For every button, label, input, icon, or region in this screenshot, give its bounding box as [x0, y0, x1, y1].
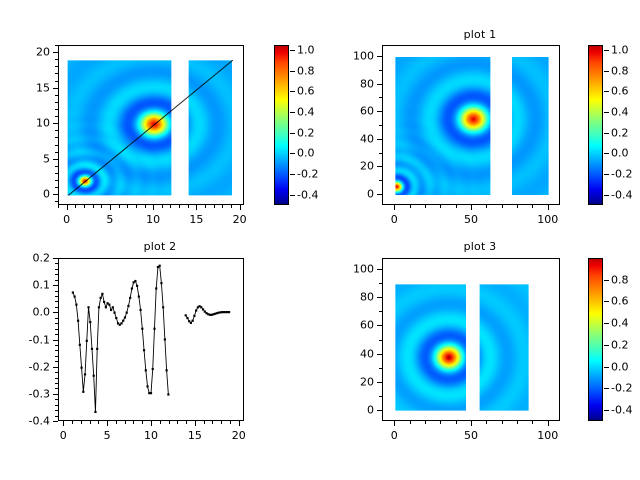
axes-plot-1 — [382, 45, 560, 205]
data-point-marker — [155, 287, 157, 289]
colorbar-tick — [290, 91, 295, 92]
data-point-marker — [110, 309, 112, 311]
data-point-marker — [108, 304, 110, 306]
colorbar-tick — [604, 112, 609, 113]
colorbar-tick-label: 0.6 — [611, 295, 629, 308]
data-point-marker — [159, 265, 161, 267]
y-tick-label: -0.2 — [0, 360, 50, 373]
data-point-marker — [124, 316, 126, 318]
y-tick-minor — [379, 125, 382, 126]
x-tick-minor — [502, 421, 503, 424]
y-tick-label: 20 — [320, 160, 374, 173]
x-tick-minor — [136, 205, 137, 208]
colorbar-tick-label: 0.6 — [297, 85, 315, 98]
y-tick-minor — [55, 166, 58, 167]
y-tick-minor — [55, 180, 58, 181]
y-tick-major — [53, 88, 58, 89]
x-tick-major — [195, 421, 196, 426]
y-tick-major — [377, 194, 382, 195]
x-tick-major — [471, 205, 472, 210]
data-point-marker — [136, 285, 138, 287]
data-point-marker — [190, 322, 192, 324]
y-tick-major — [377, 410, 382, 411]
data-point-marker — [134, 280, 136, 282]
x-tick-major — [548, 205, 549, 210]
x-tick-minor — [119, 205, 120, 208]
y-tick-label: 5 — [0, 152, 50, 165]
y-tick-label: 0.1 — [0, 279, 50, 292]
data-point-marker — [75, 304, 77, 306]
x-tick-minor — [98, 421, 99, 424]
x-tick-minor — [486, 421, 487, 424]
y-tick-minor — [55, 59, 58, 60]
x-tick-minor — [84, 205, 85, 208]
data-point-marker — [103, 301, 105, 303]
y-tick-minor — [55, 329, 58, 330]
colorbar-tick-label: 0.0 — [611, 360, 629, 373]
x-tick-minor — [231, 205, 232, 208]
y-tick-minor — [379, 97, 382, 98]
data-point-marker — [112, 306, 114, 308]
x-tick-minor — [101, 205, 102, 208]
colorbar-tick — [604, 345, 609, 346]
data-point-marker — [74, 295, 76, 297]
y-tick-major — [377, 56, 382, 57]
y-tick-label: 40 — [320, 347, 374, 360]
y-tick-minor — [55, 323, 58, 324]
data-point-marker — [143, 349, 145, 351]
y-tick-minor — [55, 187, 58, 188]
x-tick-minor — [517, 421, 518, 424]
x-tick-minor — [440, 205, 441, 208]
x-tick-label: 5 — [104, 429, 111, 442]
y-tick-minor — [55, 280, 58, 281]
x-tick-minor — [410, 205, 411, 208]
data-point-marker — [152, 368, 154, 370]
x-tick-minor — [142, 421, 143, 424]
y-tick-minor — [55, 95, 58, 96]
data-point-marker — [160, 282, 162, 284]
y-tick-minor — [55, 109, 58, 110]
x-tick-minor — [425, 205, 426, 208]
y-tick-label: 0 — [320, 187, 374, 200]
data-point-marker — [89, 321, 91, 323]
colorbar-plot-1 — [588, 45, 603, 205]
axes-plot-3 — [382, 258, 560, 421]
y-tick-label: 60 — [320, 319, 374, 332]
data-point-marker — [115, 317, 117, 319]
colorbar-tick-label: 1.0 — [611, 44, 629, 57]
y-tick-label: 0 — [0, 188, 50, 201]
y-tick-minor — [55, 45, 58, 46]
y-tick-minor — [55, 274, 58, 275]
data-point-marker — [166, 369, 168, 371]
data-point-marker — [200, 306, 202, 308]
y-tick-minor — [55, 416, 58, 417]
data-point-marker — [91, 348, 93, 350]
y-tick-minor — [379, 396, 382, 397]
x-tick-minor — [456, 421, 457, 424]
y-tick-major — [53, 194, 58, 195]
y-tick-label: 15 — [0, 81, 50, 94]
y-tick-minor — [379, 283, 382, 284]
data-point-marker — [79, 344, 81, 346]
data-point-marker — [122, 320, 124, 322]
colorbar-tick — [604, 301, 609, 302]
y-tick-minor — [55, 356, 58, 357]
colorbar-top-left — [274, 45, 289, 205]
colorbar-tick-label: 0.2 — [611, 338, 629, 351]
data-point-marker — [153, 328, 155, 330]
y-tick-minor — [379, 368, 382, 369]
y-tick-minor — [379, 70, 382, 71]
y-tick-minor — [379, 340, 382, 341]
plot-2-line-series — [59, 259, 243, 420]
y-tick-minor — [55, 263, 58, 264]
data-point-marker — [202, 308, 204, 310]
y-tick-label: -0.1 — [0, 333, 50, 346]
data-point-marker — [186, 317, 188, 319]
y-tick-major — [53, 159, 58, 160]
x-tick-minor — [532, 421, 533, 424]
data-point-marker — [146, 385, 148, 387]
y-tick-major — [377, 166, 382, 167]
y-tick-label: 10 — [0, 117, 50, 130]
data-point-marker — [131, 287, 133, 289]
data-point-marker — [105, 306, 107, 308]
y-tick-minor — [55, 405, 58, 406]
x-tick-minor — [410, 421, 411, 424]
x-tick-major — [153, 205, 154, 210]
y-tick-label: -0.3 — [0, 387, 50, 400]
x-tick-major — [196, 205, 197, 210]
y-tick-minor — [55, 399, 58, 400]
x-tick-minor — [170, 205, 171, 208]
colorbar-tick-label: -0.4 — [297, 188, 318, 201]
data-point-marker — [77, 320, 79, 322]
colorbar-tick — [290, 133, 295, 134]
data-point-marker — [129, 297, 131, 299]
colorbar-tick-label: 0.4 — [611, 317, 629, 330]
panel-top-right: plot 1 050100020406080100 1.00.80.60.40.… — [320, 0, 640, 240]
x-tick-minor — [127, 205, 128, 208]
y-tick-major — [377, 354, 382, 355]
colorbar-tick-label: 0.4 — [611, 106, 629, 119]
colorbar-tick — [604, 280, 609, 281]
data-point-marker — [100, 297, 102, 299]
y-tick-label: 0 — [320, 403, 374, 416]
data-point-marker — [126, 312, 128, 314]
x-tick-minor — [486, 205, 487, 208]
y-tick-label: -0.4 — [0, 415, 50, 428]
x-tick-minor — [456, 205, 457, 208]
x-tick-minor — [230, 421, 231, 424]
x-tick-minor — [204, 421, 205, 424]
data-point-marker — [84, 373, 86, 375]
colorbar-tick-label: 0.8 — [297, 64, 315, 77]
y-tick-label: 100 — [320, 50, 374, 63]
x-tick-label: 0 — [60, 429, 67, 442]
data-point-marker — [82, 391, 84, 393]
y-tick-major — [377, 382, 382, 383]
x-tick-minor — [72, 421, 73, 424]
colorbar-tick-label: -0.2 — [297, 168, 318, 181]
data-point-marker — [164, 338, 166, 340]
figure-canvas: 0510152005101520 1.00.80.60.40.20.0-0.2-… — [0, 0, 640, 480]
data-point-marker — [127, 305, 129, 307]
y-tick-major — [53, 312, 58, 313]
x-tick-minor — [186, 421, 187, 424]
y-tick-label: 100 — [320, 263, 374, 276]
y-tick-label: 20 — [0, 46, 50, 59]
y-tick-minor — [55, 201, 58, 202]
colorbar-tick — [290, 174, 295, 175]
colorbar-tick-label: -0.4 — [611, 404, 632, 417]
y-tick-minor — [379, 180, 382, 181]
x-tick-minor — [502, 205, 503, 208]
x-tick-label: 20 — [232, 429, 246, 442]
y-tick-minor — [55, 291, 58, 292]
x-tick-label: 15 — [189, 213, 203, 226]
x-tick-minor — [160, 421, 161, 424]
y-tick-label: 40 — [320, 132, 374, 145]
colorbar-tick — [604, 91, 609, 92]
data-point-marker — [141, 328, 143, 330]
colorbar-tick — [290, 50, 295, 51]
panel-bottom-right: plot 3 050100020406080100 0.80.60.40.20.… — [320, 240, 640, 480]
y-tick-minor — [55, 145, 58, 146]
x-tick-minor — [179, 205, 180, 208]
colorbar-tick — [604, 388, 609, 389]
panel-title-plot-3: plot 3 — [320, 240, 640, 253]
x-tick-minor — [188, 205, 189, 208]
y-tick-minor — [55, 378, 58, 379]
x-tick-minor — [133, 421, 134, 424]
x-tick-label: 10 — [146, 213, 160, 226]
line-path — [73, 266, 168, 412]
colorbar-tick-label: 0.0 — [611, 147, 629, 160]
x-tick-minor — [162, 205, 163, 208]
y-tick-label: 0.2 — [0, 252, 50, 265]
colorbar-tick — [604, 153, 609, 154]
colorbar-tick — [604, 71, 609, 72]
data-point-marker — [193, 315, 195, 317]
colorbar-tick-label: 0.2 — [297, 126, 315, 139]
x-tick-major — [240, 205, 241, 210]
colorbar-tick — [290, 112, 295, 113]
y-tick-major — [377, 325, 382, 326]
y-tick-major — [53, 258, 58, 259]
y-tick-minor — [55, 73, 58, 74]
colorbar-tick — [604, 323, 609, 324]
y-tick-major — [53, 123, 58, 124]
x-tick-major — [63, 421, 64, 426]
y-tick-minor — [55, 318, 58, 319]
x-tick-label: 5 — [106, 213, 113, 226]
data-point-marker — [98, 306, 100, 308]
data-point-marker — [72, 291, 74, 293]
colorbar-tick — [290, 71, 295, 72]
x-tick-major — [151, 421, 152, 426]
data-point-marker — [185, 314, 187, 316]
x-tick-label: 50 — [464, 429, 478, 442]
colorbar-tick — [604, 174, 609, 175]
y-tick-major — [377, 84, 382, 85]
panel-title-plot-1: plot 1 — [320, 28, 640, 41]
colorbar-tick-label: 0.2 — [611, 126, 629, 139]
colorbar-gradient — [274, 45, 289, 205]
y-tick-minor — [55, 383, 58, 384]
y-tick-label: 80 — [320, 291, 374, 304]
y-tick-minor — [55, 410, 58, 411]
heatmap-image — [383, 259, 560, 421]
x-tick-minor — [81, 421, 82, 424]
y-tick-minor — [55, 301, 58, 302]
y-tick-major — [53, 285, 58, 286]
colorbar-tick — [604, 410, 609, 411]
data-point-marker — [93, 375, 95, 377]
colorbar-tick-label: 0.4 — [297, 106, 315, 119]
data-point-marker — [96, 348, 98, 350]
data-point-marker — [192, 320, 194, 322]
y-tick-major — [377, 297, 382, 298]
x-tick-major — [394, 421, 395, 426]
x-tick-minor — [75, 205, 76, 208]
x-tick-major — [67, 205, 68, 210]
axes-top-left — [58, 45, 244, 205]
y-tick-major — [377, 269, 382, 270]
x-tick-minor — [145, 205, 146, 208]
x-tick-minor — [93, 205, 94, 208]
y-tick-minor — [55, 269, 58, 270]
x-tick-major — [110, 205, 111, 210]
colorbar-tick — [604, 50, 609, 51]
y-tick-major — [53, 52, 58, 53]
data-point-marker — [101, 293, 103, 295]
y-tick-label: 60 — [320, 105, 374, 118]
colorbar-tick-label: 0.6 — [611, 85, 629, 98]
x-tick-minor — [532, 205, 533, 208]
x-tick-minor — [212, 421, 213, 424]
x-tick-major — [107, 421, 108, 426]
y-tick-minor — [55, 372, 58, 373]
colorbar-plot-3 — [588, 258, 603, 421]
data-point-marker — [87, 306, 89, 308]
x-tick-label: 0 — [391, 213, 398, 226]
y-tick-minor — [379, 153, 382, 154]
y-tick-minor — [55, 152, 58, 153]
data-point-marker — [86, 340, 88, 342]
x-tick-label: 100 — [537, 429, 558, 442]
x-tick-minor — [169, 421, 170, 424]
heatmap-image — [383, 46, 560, 205]
colorbar-tick-label: 0.8 — [611, 273, 629, 286]
x-tick-minor — [177, 421, 178, 424]
y-tick-minor — [55, 345, 58, 346]
colorbar-gradient — [588, 258, 603, 421]
y-tick-label: 0.0 — [0, 306, 50, 319]
colorbar-gradient — [588, 45, 603, 205]
y-tick-minor — [55, 296, 58, 297]
y-tick-major — [377, 139, 382, 140]
data-point-marker — [167, 393, 169, 395]
y-tick-major — [377, 111, 382, 112]
colorbar-tick-label: -0.2 — [611, 382, 632, 395]
y-tick-minor — [55, 334, 58, 335]
y-tick-label: 20 — [320, 375, 374, 388]
axes-plot-2 — [58, 258, 244, 421]
y-tick-major — [53, 340, 58, 341]
y-tick-minor — [55, 137, 58, 138]
y-tick-major — [53, 421, 58, 422]
x-tick-minor — [90, 421, 91, 424]
x-tick-label: 50 — [464, 213, 478, 226]
x-tick-major — [548, 421, 549, 426]
data-point-marker — [195, 309, 197, 311]
x-tick-label: 0 — [63, 213, 70, 226]
x-tick-minor — [205, 205, 206, 208]
data-point-marker — [162, 306, 164, 308]
data-point-marker — [138, 295, 140, 297]
x-tick-minor — [425, 421, 426, 424]
data-point-marker — [228, 311, 230, 313]
x-tick-label: 20 — [233, 213, 247, 226]
y-tick-major — [53, 367, 58, 368]
y-tick-major — [53, 394, 58, 395]
colorbar-tick-label: 0.0 — [297, 147, 315, 160]
data-point-marker — [80, 367, 82, 369]
y-tick-minor — [55, 116, 58, 117]
x-tick-label: 15 — [188, 429, 202, 442]
colorbar-tick-label: -0.2 — [611, 168, 632, 181]
y-tick-minor — [55, 388, 58, 389]
x-tick-minor — [58, 205, 59, 208]
data-point-marker — [139, 309, 141, 311]
y-tick-minor — [55, 66, 58, 67]
x-tick-minor — [125, 421, 126, 424]
x-tick-minor — [116, 421, 117, 424]
colorbar-tick — [290, 195, 295, 196]
x-tick-minor — [517, 205, 518, 208]
x-tick-minor — [221, 421, 222, 424]
panel-bottom-left: plot 2 051015200.20.10.0-0.1-0.2-0.3-0.4 — [0, 240, 320, 480]
x-tick-label: 10 — [144, 429, 158, 442]
x-tick-major — [471, 421, 472, 426]
y-tick-minor — [379, 311, 382, 312]
data-point-marker — [120, 322, 122, 324]
colorbar-tick-label: 1.0 — [297, 44, 315, 57]
panel-top-left: 0510152005101520 1.00.80.60.40.20.0-0.2-… — [0, 0, 320, 240]
x-tick-minor — [440, 421, 441, 424]
colorbar-tick — [604, 195, 609, 196]
y-tick-minor — [55, 81, 58, 82]
x-tick-minor — [214, 205, 215, 208]
x-tick-label: 0 — [391, 429, 398, 442]
colorbar-tick — [290, 153, 295, 154]
x-tick-label: 100 — [537, 213, 558, 226]
colorbar-tick — [604, 133, 609, 134]
colorbar-tick-label: -0.4 — [611, 188, 632, 201]
y-tick-minor — [55, 307, 58, 308]
y-tick-minor — [55, 173, 58, 174]
y-tick-minor — [55, 130, 58, 131]
colorbar-tick-label: 0.8 — [611, 64, 629, 77]
data-point-marker — [94, 411, 96, 413]
y-tick-label: 80 — [320, 77, 374, 90]
data-point-marker — [150, 392, 152, 394]
y-tick-minor — [55, 102, 58, 103]
x-tick-major — [239, 421, 240, 426]
